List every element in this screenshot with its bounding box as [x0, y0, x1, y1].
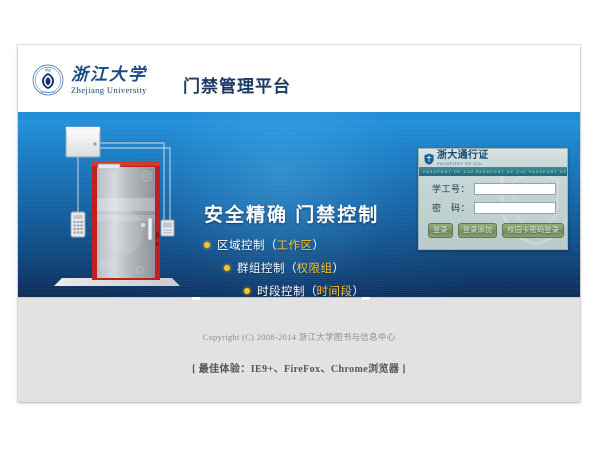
bullet-icon	[224, 265, 230, 271]
site-logo[interactable]: 求是 ZHEJIANG UNIV 浙江大学 Zhejiang Universit…	[32, 64, 147, 96]
login-button[interactable]: 登录	[428, 223, 453, 238]
footer-notch	[192, 297, 200, 300]
feature-paren-close: ）	[333, 260, 345, 276]
feature-sublabel: 权限组	[297, 260, 333, 276]
login-brand-en: PASSPORT OF ZJU	[437, 161, 489, 166]
login-panel: 浙大通行证 PASSPORT OF ZJU PASSPORT OF ZJU PA…	[418, 148, 568, 250]
app-root: 求是 ZHEJIANG UNIV 浙江大学 Zhejiang Universit…	[0, 0, 600, 450]
feature-paren-close: ）	[353, 283, 365, 297]
password-label: 密 码：	[428, 201, 470, 214]
login-brand-cn: 浙大通行证	[437, 151, 489, 161]
feature-sublabel: 时间段	[317, 283, 353, 297]
bullet-icon	[244, 288, 250, 294]
browser-support-text: [ 最佳体验：IE9+、FireFox、Chrome浏览器 ]	[18, 360, 580, 375]
bullet-icon	[204, 242, 210, 248]
campus-card-login-button[interactable]: 校园卡密码登录	[502, 223, 564, 238]
username-label: 学工号：	[428, 182, 470, 195]
copyright-text: Copyright (C) 2008-2014 浙江大学图书与信息中心	[18, 331, 580, 343]
shield-icon	[424, 152, 434, 164]
feature-paren-close: ）	[313, 237, 325, 253]
login-panel-header: 浙大通行证 PASSPORT OF ZJU	[419, 149, 567, 167]
login-brand-strip: PASSPORT OF ZJU PASSPORT OF ZJU PASSPORT…	[419, 167, 567, 176]
login-add-button[interactable]: 登录添加	[458, 223, 498, 238]
access-control-door-illustration	[48, 120, 208, 295]
feature-paren-open: （	[285, 260, 297, 276]
page-card: 求是 ZHEJIANG UNIV 浙江大学 Zhejiang Universit…	[18, 45, 580, 402]
feature-paren-open: （	[265, 237, 277, 253]
feature-item-schedule: 时段控制 （ 时间段 ）	[204, 283, 434, 297]
password-field-row: 密 码：	[428, 201, 567, 214]
university-name-cn: 浙江大学	[71, 66, 147, 83]
hero-banner: 安全精确 门禁控制 区域控制 （ 工作区 ） 群组控制 （ 权限组 ）	[18, 112, 580, 297]
password-input[interactable]	[474, 202, 556, 214]
feature-label: 群组控制	[237, 260, 285, 276]
login-strip-text: PASSPORT OF ZJU PASSPORT OF ZJU PASSPORT…	[419, 170, 567, 174]
login-button-row: 登录 登录添加 校园卡密码登录	[428, 223, 567, 238]
feature-sublabel: 工作区	[277, 237, 313, 253]
zju-seal-icon: 求是 ZHEJIANG UNIV	[32, 64, 64, 96]
university-name: 浙江大学 Zhejiang University	[71, 66, 147, 95]
feature-list: 区域控制 （ 工作区 ） 群组控制 （ 权限组 ） 时段控制 （ 时间段	[204, 237, 434, 297]
feature-paren-open: （	[305, 283, 317, 297]
username-field-row: 学工号：	[428, 182, 567, 195]
feature-item-group: 群组控制 （ 权限组 ）	[204, 260, 434, 276]
university-name-en: Zhejiang University	[71, 86, 147, 95]
username-input[interactable]	[474, 183, 556, 195]
hero-headline: 安全精确 门禁控制	[204, 200, 379, 227]
footer-notch	[362, 297, 370, 300]
site-header: 求是 ZHEJIANG UNIV 浙江大学 Zhejiang Universit…	[18, 45, 580, 112]
svg-text:求是: 求是	[45, 67, 51, 72]
feature-label: 区域控制	[217, 237, 265, 253]
page-title: 门禁管理平台	[183, 72, 291, 97]
login-form: 学工号： 密 码： 登录 登录添加 校园卡密码登录	[419, 176, 567, 249]
site-footer: Copyright (C) 2008-2014 浙江大学图书与信息中心 [ 最佳…	[18, 297, 580, 402]
feature-item-area: 区域控制 （ 工作区 ）	[204, 237, 434, 253]
feature-label: 时段控制	[257, 283, 305, 297]
